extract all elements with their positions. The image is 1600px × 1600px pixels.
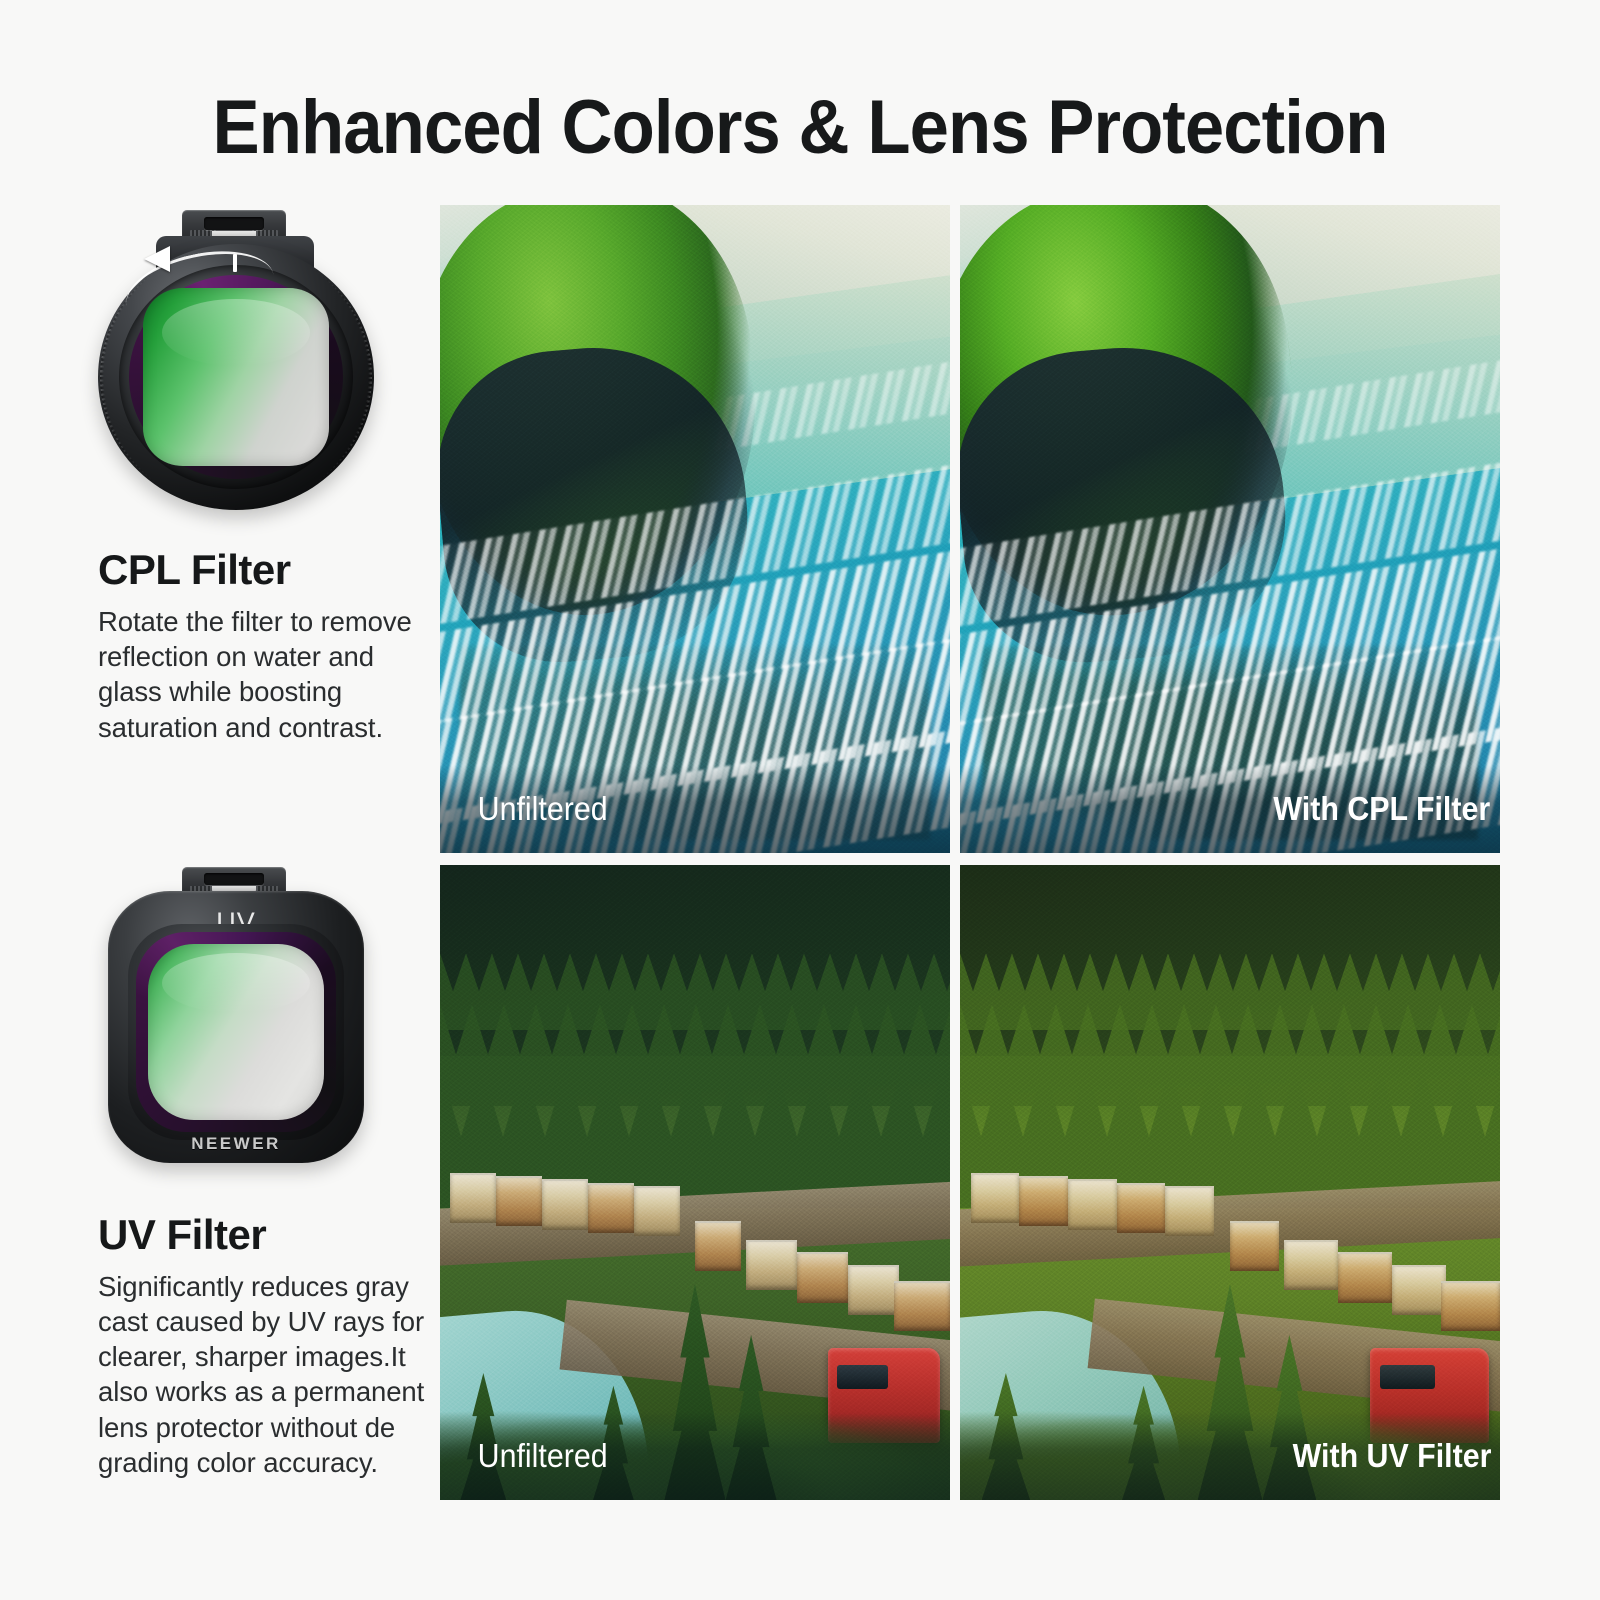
uv-filter-body: UV NEEWER [108,891,364,1163]
feature-block-cpl: CPL Filter Rotate the filter to remove r… [0,190,440,745]
feature-description-cpl: Rotate the filter to remove reflection o… [98,604,428,745]
product-feature-page: Enhanced Colors & Lens Protection [0,0,1600,1600]
feature-description-uv: Significantly reduces gray cast caused b… [98,1269,428,1480]
rotation-arrow-icon [144,246,170,272]
photo-coast-cpl: With CPL Filter [960,205,1500,853]
photo-train-uv: With UV Filter [960,865,1500,1500]
index-tick-icon [233,254,237,272]
cpl-filter-product-image [0,190,440,520]
feature-sidebar: CPL Filter Rotate the filter to remove r… [0,190,440,1480]
feature-block-uv: UV NEEWER UV Filter Significantly reduce… [0,855,440,1480]
brand-logo: NEEWER [108,1134,364,1154]
photo-coast-unfiltered: Unfiltered [440,205,950,853]
uv-glass-element [148,944,324,1120]
comparison-grid: Unfiltered With CPL Filter [440,205,1500,1500]
uv-filter-product-image: UV NEEWER [0,855,440,1185]
page-title: Enhanced Colors & Lens Protection [56,84,1544,171]
feature-heading-cpl: CPL Filter [98,546,440,594]
feature-heading-uv: UV Filter [98,1211,440,1259]
photo-train-unfiltered: Unfiltered [440,865,950,1500]
